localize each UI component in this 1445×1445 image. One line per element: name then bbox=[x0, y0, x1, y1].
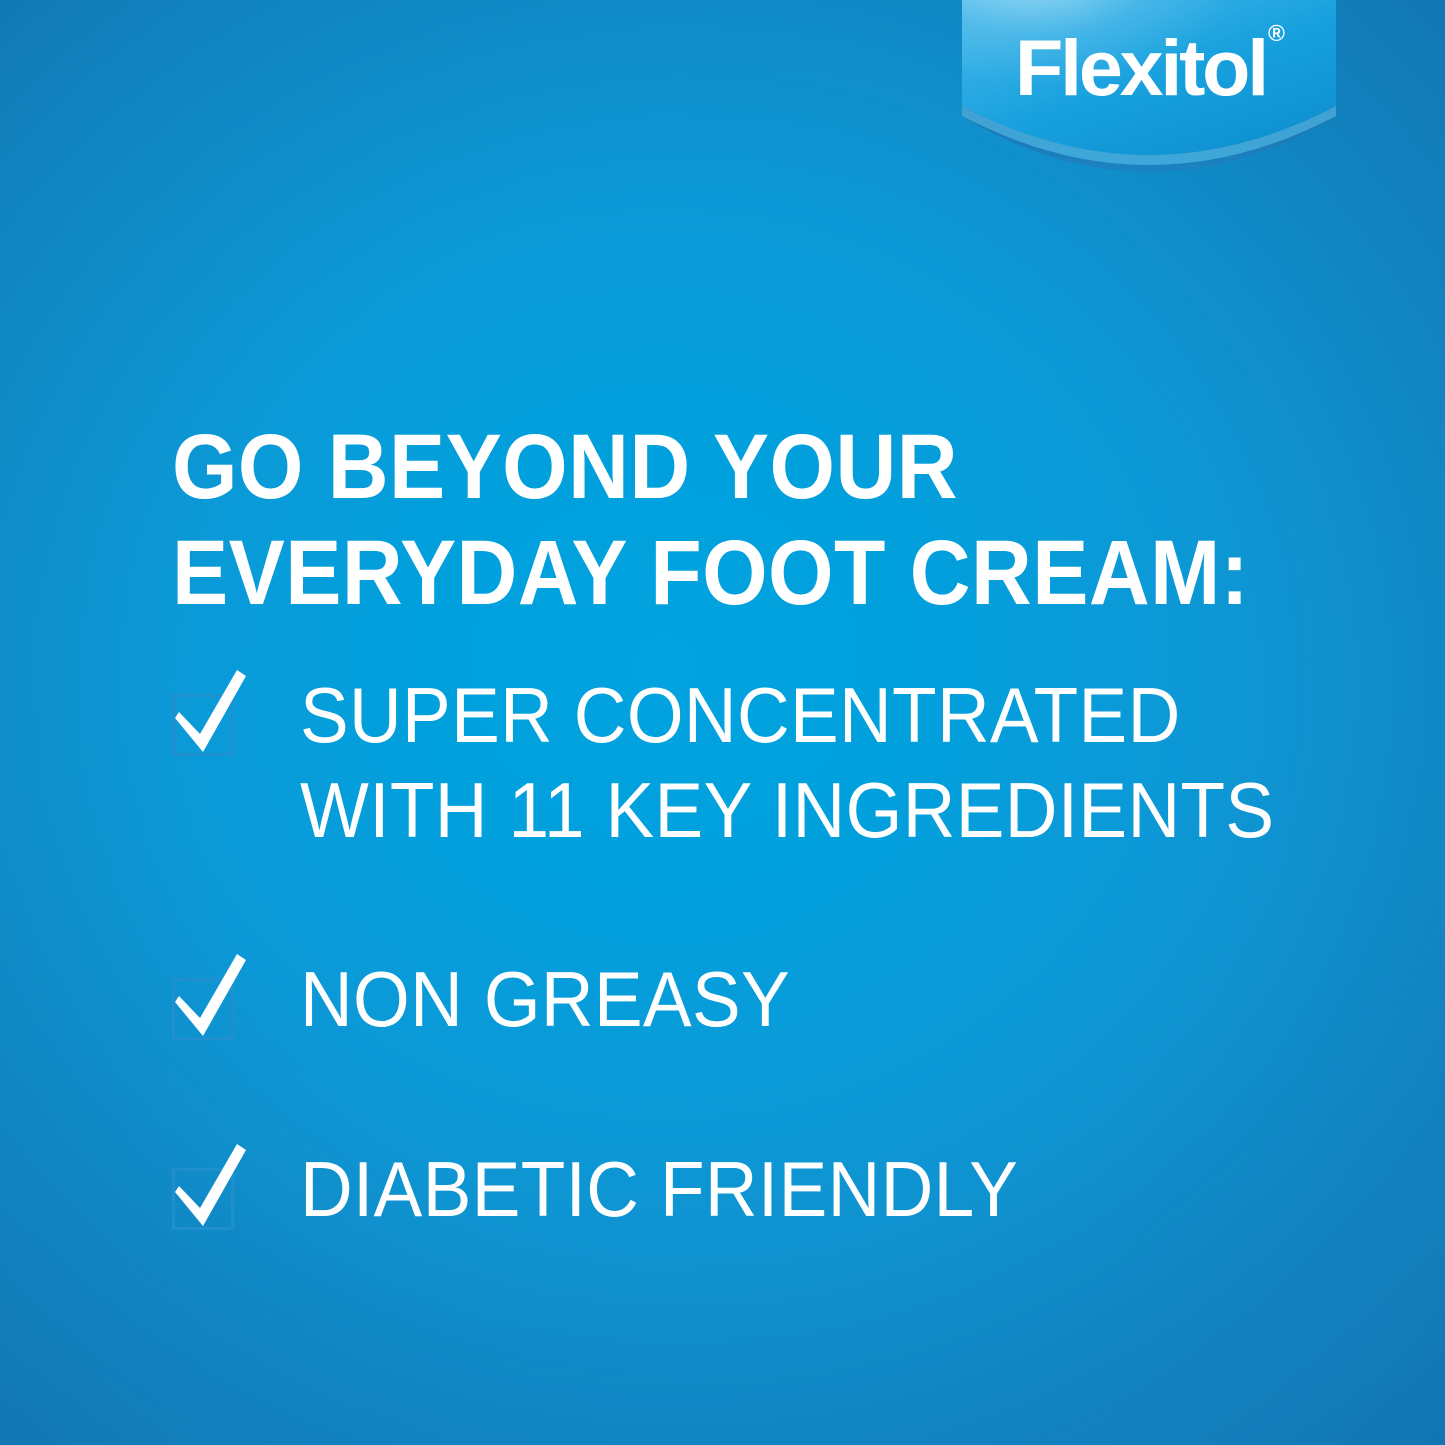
check-mark-icon bbox=[167, 668, 253, 760]
promo-poster: Flexitol® GO BEYOND YOUR EVERYDAY FOOT C… bbox=[0, 0, 1445, 1445]
benefit-text-line: NON GREASY bbox=[300, 952, 790, 1047]
check-mark-icon bbox=[167, 1142, 253, 1234]
brand-wordmark: Flexitol® bbox=[956, 0, 1342, 126]
registered-trademark-icon: ® bbox=[1268, 20, 1285, 46]
headline: GO BEYOND YOUR EVERYDAY FOOT CREAM: bbox=[172, 414, 1252, 626]
benefit-text: DIABETIC FRIENDLY bbox=[300, 1142, 1018, 1237]
checkbox-checked-icon bbox=[172, 1168, 234, 1230]
checkbox-checked-icon bbox=[172, 694, 234, 756]
benefit-text: NON GREASY bbox=[300, 952, 790, 1047]
benefit-text: SUPER CONCENTRATED WITH 11 KEY INGREDIEN… bbox=[300, 668, 1274, 858]
benefit-item-non-greasy: NON GREASY bbox=[172, 952, 1372, 1142]
benefit-text-line: SUPER CONCENTRATED bbox=[300, 668, 1274, 763]
benefit-item-diabetic-friendly: DIABETIC FRIENDLY bbox=[172, 1142, 1372, 1262]
benefits-list: SUPER CONCENTRATED WITH 11 KEY INGREDIEN… bbox=[172, 668, 1372, 1262]
checkbox-checked-icon bbox=[172, 978, 234, 1040]
benefit-text-line: DIABETIC FRIENDLY bbox=[300, 1142, 1018, 1237]
check-mark-icon bbox=[167, 952, 253, 1044]
headline-line-2: EVERYDAY FOOT CREAM: bbox=[172, 520, 1252, 626]
brand-name: Flexitol bbox=[1015, 23, 1266, 112]
benefit-text-line: WITH 11 KEY INGREDIENTS bbox=[300, 763, 1274, 858]
headline-line-1: GO BEYOND YOUR bbox=[172, 414, 1252, 520]
brand-badge: Flexitol® bbox=[956, 0, 1342, 210]
benefit-item-super-concentrated: SUPER CONCENTRATED WITH 11 KEY INGREDIEN… bbox=[172, 668, 1372, 952]
